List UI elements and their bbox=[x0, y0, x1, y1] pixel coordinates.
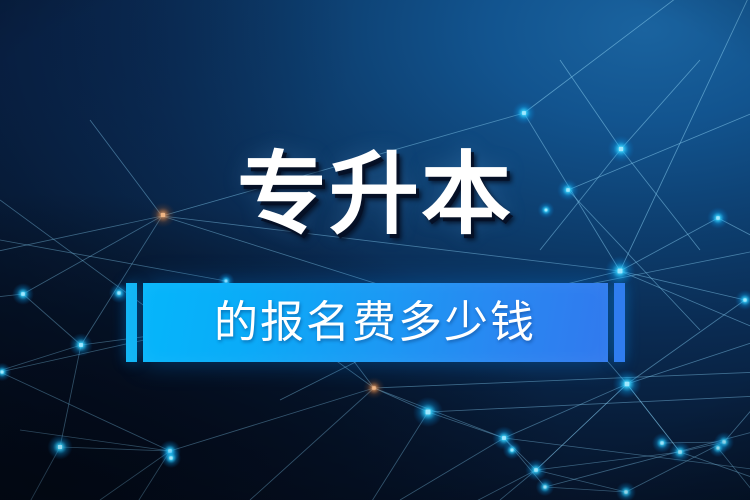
background-vignette bbox=[0, 0, 750, 500]
subtitle-banner: 的报名费多少钱 bbox=[143, 283, 608, 362]
subtitle-banner-row: 的报名费多少钱 bbox=[0, 283, 750, 362]
right-accent-bar bbox=[614, 283, 625, 362]
subtitle-text: 的报名费多少钱 bbox=[214, 301, 536, 345]
promo-banner: 专升本 的报名费多少钱 bbox=[0, 0, 750, 500]
left-accent-bar bbox=[126, 283, 137, 362]
